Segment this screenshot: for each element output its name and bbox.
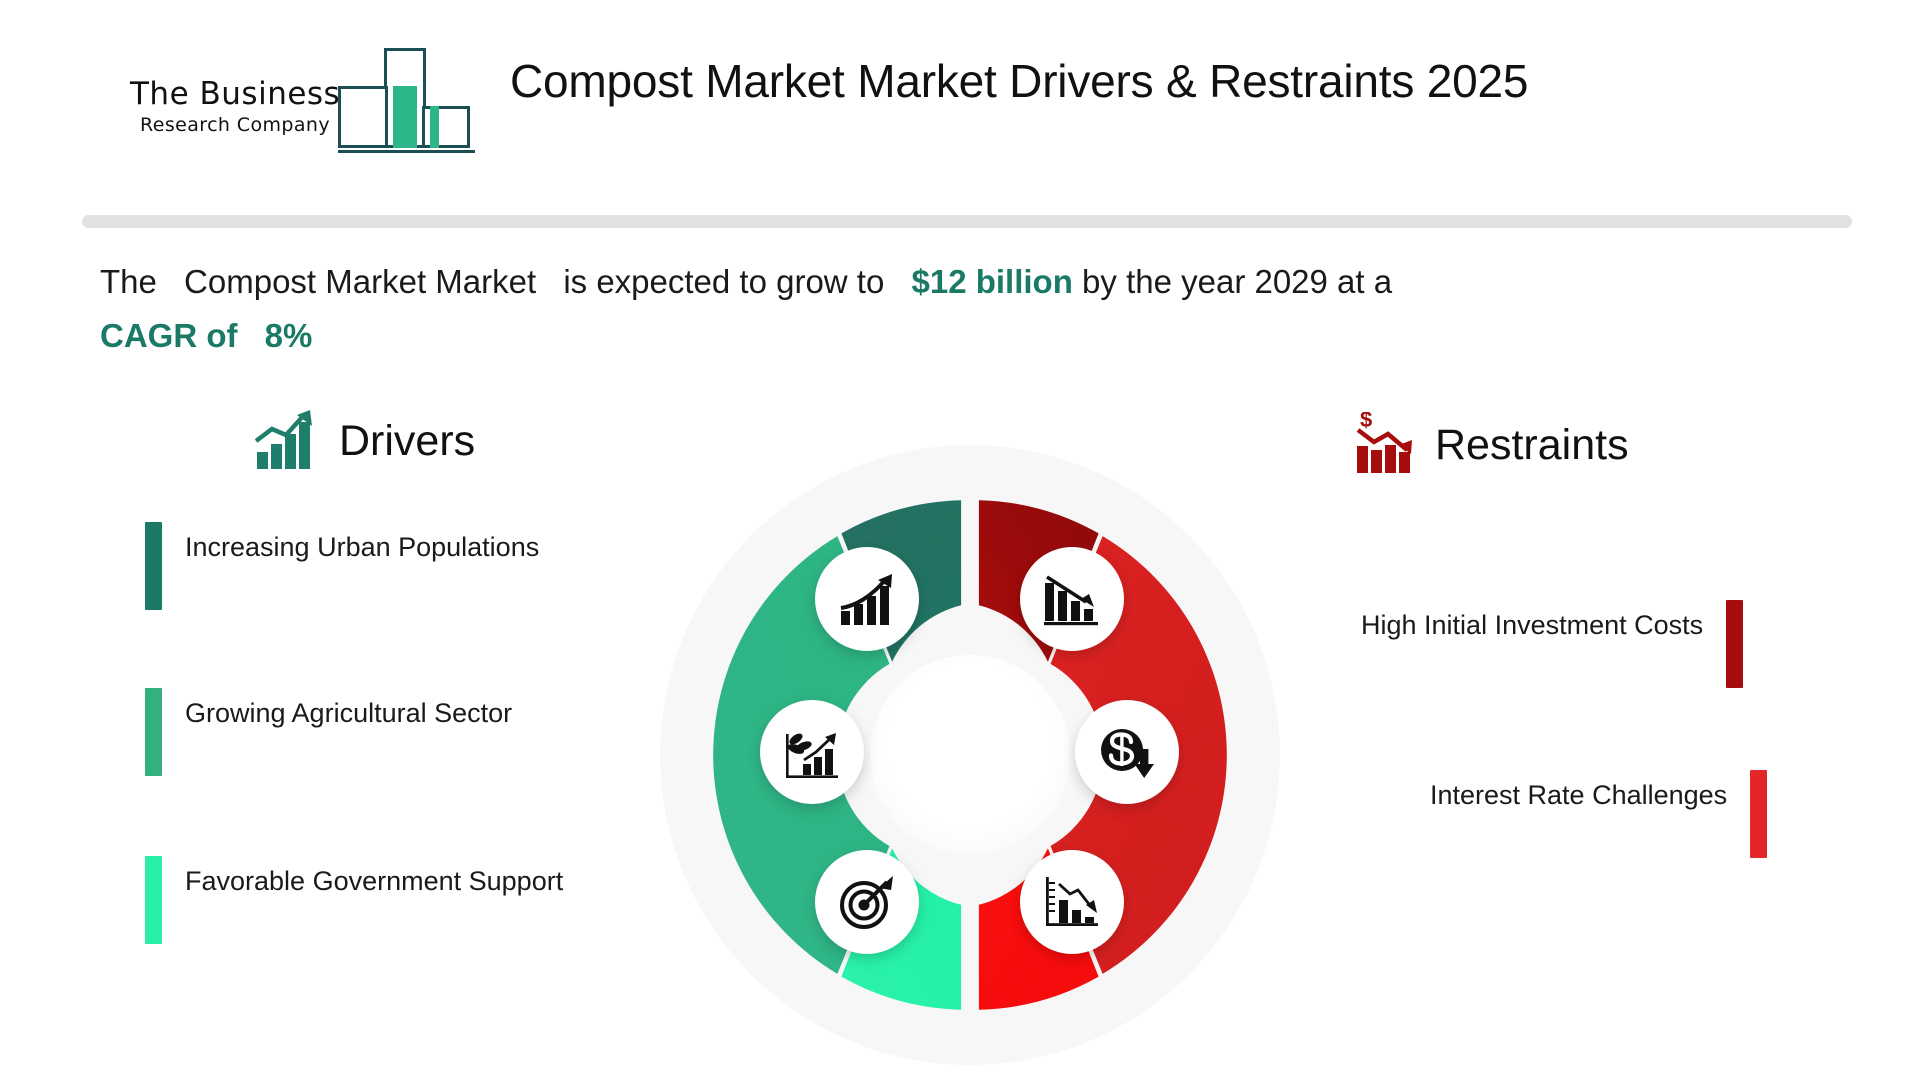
page-title: Compost Market Market Drivers & Restrain… <box>510 48 1810 114</box>
summary-part-3: by the year 2029 at a <box>1082 263 1392 300</box>
drivers-restraints-wheel <box>660 445 1280 1065</box>
declining-line-chart-icon <box>1042 872 1102 932</box>
wheel-badge-declining-bars <box>1020 547 1124 651</box>
logo-line-2: Research Company <box>130 114 340 136</box>
restraints-heading-group: $ Restraints <box>1355 412 1629 479</box>
dollar-down-arrow-icon <box>1097 722 1157 782</box>
bar-chart-logo-icon <box>330 48 475 153</box>
growth-bar-chart-up-icon <box>255 408 317 475</box>
driver-label: Growing Agricultural Sector <box>185 698 512 728</box>
restraint-list-item: High Initial Investment Costs <box>1361 600 1743 688</box>
logo-line-1: The Business <box>130 76 340 112</box>
logo-wordmark: The Business Research Company <box>130 76 340 136</box>
summary-part-1: The <box>100 263 157 300</box>
restraint-label: High Initial Investment Costs <box>1361 610 1703 640</box>
restraint-label: Interest Rate Challenges <box>1430 780 1727 810</box>
summary-market-name: Compost Market Market <box>184 263 536 300</box>
header-divider <box>82 215 1852 228</box>
wheel-center-hole <box>870 655 1070 855</box>
declining-bar-chart-icon <box>1042 569 1102 629</box>
driver-label: Favorable Government Support <box>185 866 563 896</box>
restraint-list-item: Interest Rate Challenges <box>1430 770 1767 858</box>
company-logo: The Business Research Company <box>130 48 470 168</box>
driver-accent-bar <box>145 856 162 944</box>
declining-bar-chart-dollar-icon: $ <box>1355 412 1417 479</box>
driver-list-item: Favorable Government Support <box>145 856 563 944</box>
wheel-badge-target <box>815 850 919 954</box>
summary-cagr-label: CAGR of <box>100 317 237 354</box>
plant-growth-chart-icon <box>782 722 842 782</box>
driver-list-item: Growing Agricultural Sector <box>145 688 512 776</box>
driver-label: Increasing Urban Populations <box>185 532 539 562</box>
summary-part-2: is expected to grow to <box>563 263 884 300</box>
header: The Business Research Company Compost Ma… <box>0 0 1920 200</box>
driver-accent-bar <box>145 522 162 610</box>
restraints-heading-label: Restraints <box>1435 421 1629 470</box>
drivers-heading-label: Drivers <box>339 417 475 466</box>
market-summary-text: The Compost Market Market is expected to… <box>100 255 1700 363</box>
svg-text:$: $ <box>1360 412 1372 432</box>
wheel-badge-plant-growth <box>760 700 864 804</box>
infographic-page: The Business Research Company Compost Ma… <box>0 0 1920 1080</box>
restraint-accent-bar <box>1750 770 1767 858</box>
driver-list-item: Increasing Urban Populations <box>145 522 539 610</box>
wheel-badge-growth-chart <box>815 547 919 651</box>
wheel-badge-dollar-down <box>1075 700 1179 804</box>
wheel-badge-declining-line <box>1020 850 1124 954</box>
restraint-accent-bar <box>1726 600 1743 688</box>
summary-cagr-value: 8% <box>265 317 313 354</box>
growth-chart-arrow-up-icon <box>837 569 897 629</box>
drivers-heading-group: Drivers <box>255 408 475 475</box>
target-arrow-icon <box>837 872 897 932</box>
driver-accent-bar <box>145 688 162 776</box>
summary-market-value: $12 billion <box>912 263 1073 300</box>
